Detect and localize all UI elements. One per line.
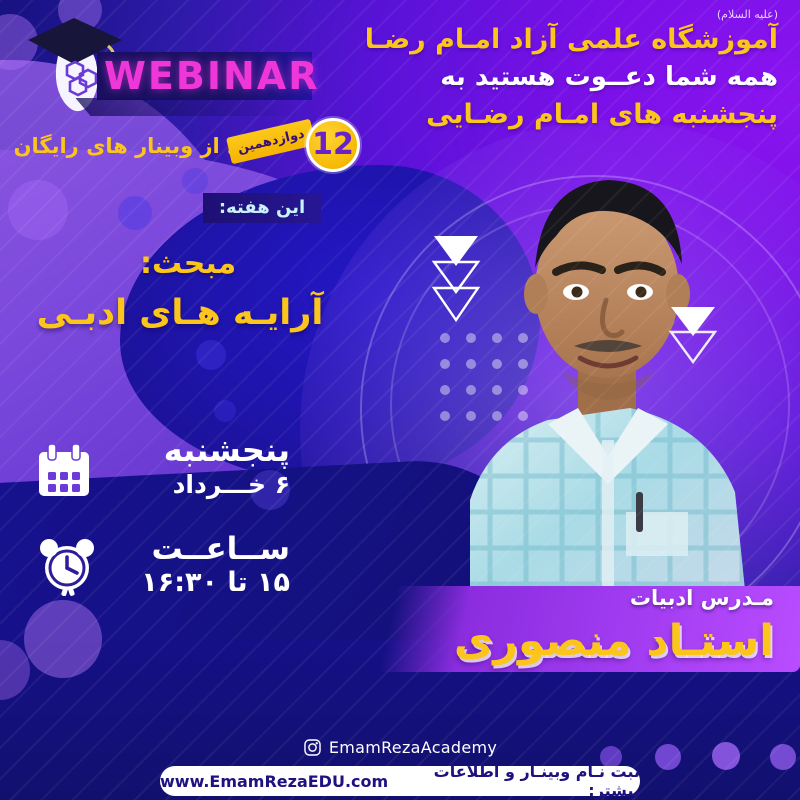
instagram-handle[interactable]: EmamRezaAcademy: [329, 738, 497, 757]
cta-label: ثبت نـام وبینـار و اطلاعات بیشتر:: [397, 762, 640, 800]
instagram-row[interactable]: EmamRezaAcademy: [0, 734, 800, 760]
bokeh-circle: [214, 400, 236, 422]
header-block: (علیه السلام) آموزشگاه علمی آزاد امـام ر…: [348, 8, 778, 134]
event-series-name: پنجشنبه های امـام رضـایی: [348, 96, 778, 134]
this-week-label: این هفته:: [203, 193, 321, 223]
triangle-marker-group: [428, 232, 484, 328]
dot-grid-decoration: [437, 330, 545, 430]
alarm-clock-icon: [36, 534, 98, 596]
organization-name: آموزشگاه علمی آزاد امـام رضـا: [348, 22, 778, 58]
instructor-role: مـدرس ادبیات: [414, 583, 774, 613]
time-value: ۱۵ تا ۱۶:۳۰: [110, 564, 290, 602]
cta-url-pill[interactable]: ثبت نـام وبینـار و اطلاعات بیشتر: www.Em…: [160, 766, 640, 796]
invitation-text: همه شما دعــوت هستید به: [348, 58, 778, 96]
cta-url[interactable]: www.EmamRezaEDU.com: [160, 772, 388, 791]
bokeh-circle: [182, 168, 208, 194]
subject-title: آرایـه هـای ادبـی: [30, 288, 330, 338]
instagram-icon[interactable]: [303, 738, 322, 757]
honorific-text: (علیه السلام): [348, 8, 778, 21]
bokeh-circle: [24, 600, 102, 678]
bokeh-circle: [196, 340, 226, 370]
bokeh-circle: [8, 180, 68, 240]
instructor-name: استـاد منصوری: [414, 612, 774, 670]
subject-label: مبحث:: [140, 243, 320, 285]
calendar-icon: [36, 444, 92, 500]
webinar-poster: WEBINAR سری از وبینار های رایگان دوازدهم…: [0, 0, 800, 800]
event-date: ۶ خـــرداد: [110, 466, 290, 504]
webinar-title: WEBINAR: [104, 55, 309, 97]
triangle-marker-group: [666, 304, 720, 376]
bokeh-circle: [118, 196, 152, 230]
